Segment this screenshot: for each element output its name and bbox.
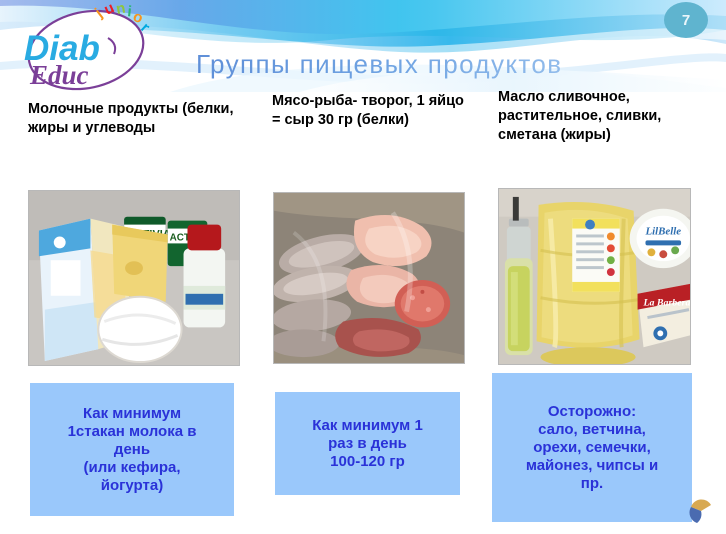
- meat-and-fish-photo: [273, 192, 465, 364]
- corner-ornament-icon: [688, 498, 714, 524]
- advice-line: сало, ветчина,: [526, 421, 658, 439]
- diabeduc-junior-logo: Diab Educ j u n i o r: [14, 2, 164, 98]
- column-fats: Масло сливочное, растительное, сливки, с…: [498, 88, 702, 145]
- svg-text:LilBelle: LilBelle: [644, 225, 681, 237]
- column-dairy: Молочные продукты (белки, жиры и углевод…: [28, 100, 252, 138]
- slide: 7 Diab Educ j u n i o r Группы пищевых п…: [0, 0, 726, 534]
- page-number: 7: [682, 12, 690, 29]
- dairy-advice-text: Как минимум 1стакан молока в день (или к…: [68, 405, 197, 495]
- advice-line: Как минимум 1: [312, 417, 423, 435]
- advice-line: орехи, семечки,: [526, 439, 658, 457]
- dairy-photo-graphic: ACTIVIA ACTIVIA: [29, 191, 239, 365]
- svg-text:Educ: Educ: [29, 60, 89, 90]
- advice-line: Осторожно:: [526, 403, 658, 421]
- column-caption: Мясо-рыба- творог, 1 яйцо = сыр 30 гр (б…: [272, 92, 472, 130]
- protein-advice-box: Как минимум 1 раз в день 100-120 гр: [275, 392, 460, 495]
- column-protein: Мясо-рыба- творог, 1 яйцо = сыр 30 гр (б…: [272, 92, 472, 130]
- logo-graphic: Diab Educ j u n i o r: [14, 2, 164, 98]
- protein-advice-text: Как минимум 1 раз в день 100-120 гр: [312, 417, 423, 471]
- meat-photo-graphic: [274, 193, 464, 363]
- svg-text:La Barbera: La Barbera: [642, 298, 690, 309]
- advice-line: 100-120 гр: [312, 453, 423, 471]
- advice-line: пр.: [526, 475, 658, 493]
- advice-line: (или кефира,: [68, 459, 197, 477]
- column-caption: Масло сливочное, растительное, сливки, с…: [498, 88, 702, 145]
- column-caption: Молочные продукты (белки, жиры и углевод…: [28, 100, 252, 138]
- page-title: Группы пищевых продуктов: [196, 49, 616, 80]
- svg-text:i: i: [127, 3, 133, 20]
- advice-line: йогурта): [68, 477, 197, 495]
- page-number-badge: 7: [664, 2, 708, 38]
- dairy-advice-box: Как минимум 1стакан молока в день (или к…: [30, 383, 234, 516]
- svg-text:n: n: [115, 2, 127, 18]
- fats-warning-box: Осторожно: сало, ветчина, орехи, семечки…: [492, 373, 692, 522]
- fats-warning-text: Осторожно: сало, ветчина, орехи, семечки…: [526, 403, 658, 493]
- advice-line: майонез, чипсы и: [526, 457, 658, 475]
- dairy-products-photo: ACTIVIA ACTIVIA: [28, 190, 240, 366]
- advice-line: Как минимум: [68, 405, 197, 423]
- advice-line: день: [68, 441, 197, 459]
- fats-and-oils-photo: LilBelle La Barbera: [498, 188, 691, 365]
- advice-line: 1стакан молока в: [68, 423, 197, 441]
- oils-photo-graphic: LilBelle La Barbera: [499, 189, 690, 364]
- advice-line: раз в день: [312, 435, 423, 453]
- corner-ornament-graphic: [688, 498, 714, 524]
